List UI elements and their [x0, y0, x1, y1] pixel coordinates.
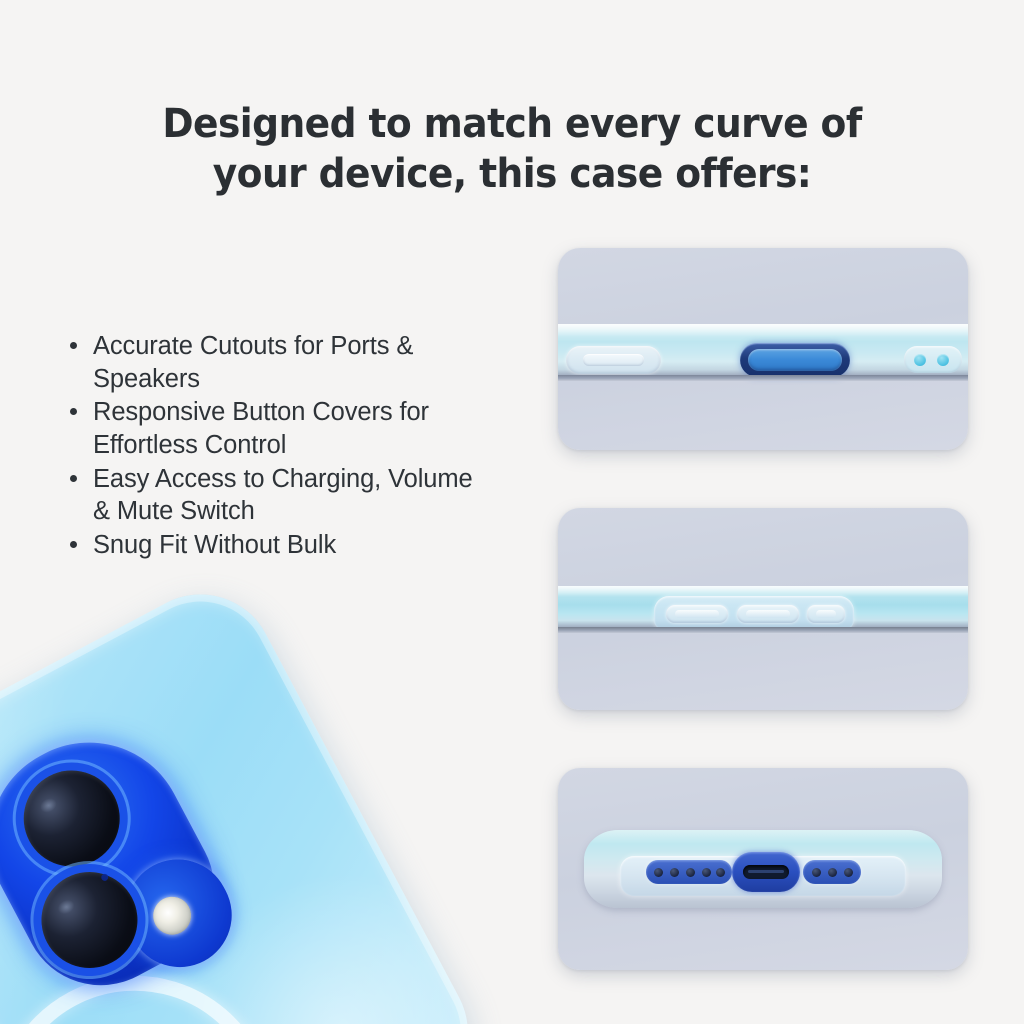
camera-lens-icon	[25, 855, 155, 985]
grille-hole	[686, 868, 695, 877]
lens-glint	[38, 796, 59, 815]
usb-c-slot	[743, 865, 789, 879]
list-item: Responsive Button Covers for Effortless …	[58, 396, 488, 461]
lens-glint	[56, 897, 77, 916]
product-hero-image	[0, 497, 547, 1024]
camera-island	[0, 709, 242, 1013]
grille-hole	[716, 868, 725, 877]
mic-hole	[937, 354, 949, 366]
speaker-grille-left-icon	[646, 860, 732, 884]
usb-c-port-icon	[732, 852, 800, 892]
microphone-holes-icon	[904, 346, 962, 373]
grille-hole	[844, 868, 853, 877]
grille-hole	[670, 868, 679, 877]
mute-switch-inner	[583, 354, 644, 366]
product-photo-charging-port	[558, 768, 968, 970]
action-button-cover-icon	[807, 605, 845, 623]
power-button-face	[748, 349, 842, 371]
rail-gloss-highlight	[558, 324, 968, 337]
list-item: Accurate Cutouts for Ports & Speakers	[58, 330, 488, 395]
mute-switch-cutout-icon	[566, 346, 661, 374]
button-cover-plate	[654, 596, 854, 630]
grille-hole	[828, 868, 837, 877]
grille-hole	[812, 868, 821, 877]
speaker-grille-right-icon	[803, 860, 861, 884]
phone-case-body	[0, 568, 494, 1024]
case-side-rail	[558, 586, 968, 628]
camera-lens-icon	[7, 754, 137, 884]
page-title: Designed to match every curve of your de…	[120, 100, 904, 199]
grille-hole	[654, 868, 663, 877]
mic-hole	[914, 354, 926, 366]
case-bottom-edge	[584, 830, 942, 908]
case-side-rail	[558, 324, 968, 376]
power-button-icon	[740, 343, 850, 377]
grille-hole	[702, 868, 711, 877]
volume-up-cover-icon	[666, 605, 728, 623]
product-photo-button-covers	[558, 508, 968, 710]
product-photo-power-button	[558, 248, 968, 450]
volume-down-cover-icon	[737, 605, 799, 623]
